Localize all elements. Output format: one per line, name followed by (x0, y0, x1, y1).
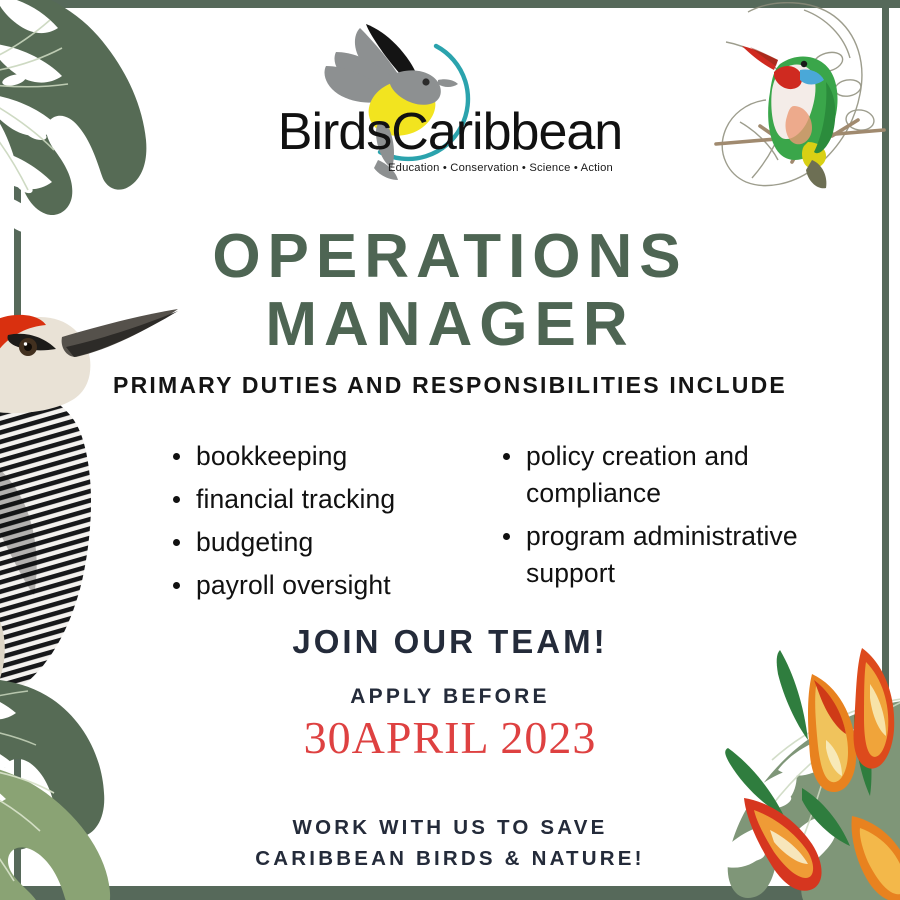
duties-left-column: bookkeeping financial tracking budgeting… (170, 438, 460, 610)
logo-word-caribbean: Caribbean (391, 103, 622, 161)
application-deadline: 30APRIL 2023 (0, 712, 900, 764)
logo-word-birds: Birds (278, 103, 391, 161)
join-team-heading: JOIN OUR TEAM! (0, 622, 900, 662)
apply-before-label: APPLY BEFORE (0, 684, 900, 710)
footer-message: WORK WITH US TO SAVE CARIBBEAN BIRDS & N… (0, 812, 900, 874)
list-item: bookkeeping (170, 438, 460, 475)
duties-section: bookkeeping financial tracking budgeting… (170, 438, 870, 610)
footer-line-1: WORK WITH US TO SAVE (0, 812, 900, 843)
duties-subtitle: PRIMARY DUTIES AND RESPONSIBILITIES INCL… (0, 372, 900, 399)
logo-wordmark: BirdsCaribbean (240, 106, 660, 158)
poster-canvas: BirdsCaribbean Education • Conservation … (0, 0, 900, 900)
list-item: budgeting (170, 524, 460, 561)
birdscaribbean-logo: BirdsCaribbean Education • Conservation … (0, 22, 900, 182)
logo-tagline: Education • Conservation • Science • Act… (388, 162, 660, 174)
frame-border-bottom (0, 886, 900, 900)
call-to-action: JOIN OUR TEAM! APPLY BEFORE 30APRIL 2023 (0, 622, 900, 764)
list-item: payroll oversight (170, 567, 460, 604)
page-title: OPERATIONS MANAGER (0, 226, 900, 356)
title-line-1: OPERATIONS (0, 226, 900, 288)
footer-line-2: CARIBBEAN BIRDS & NATURE! (0, 843, 900, 874)
duties-right-column: policy creation and compliance program a… (500, 438, 870, 598)
list-item: financial tracking (170, 481, 460, 518)
title-line-2: MANAGER (0, 294, 900, 356)
list-item: policy creation and compliance (500, 438, 870, 512)
list-item: program administrative support (500, 518, 870, 592)
frame-border-top (0, 0, 900, 8)
